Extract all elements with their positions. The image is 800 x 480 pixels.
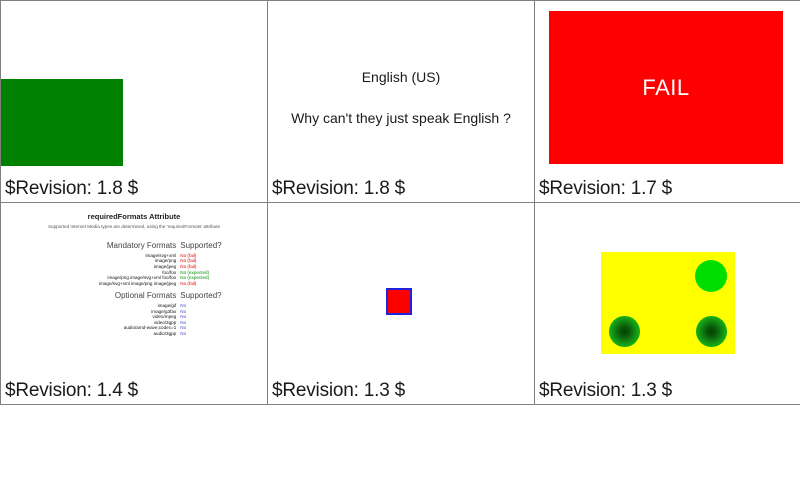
language-title: English (US) (268, 69, 534, 85)
formats-table: Mandatory FormatsSupported?image/svg+xml… (1, 236, 267, 337)
revision-label: $Revision: 1.3 $ (539, 380, 672, 402)
grid-cell-yellow-circles: $Revision: 1.3 $ (535, 203, 800, 405)
fail-banner-rectangle: FAIL (549, 11, 783, 164)
grid-cell-language-text: English (US) Why can't they just speak E… (268, 1, 535, 203)
grid-row-bottom: requiredFormats Attribute Supported Inte… (1, 203, 800, 405)
fail-banner-text: FAIL (549, 11, 783, 164)
optional-formats-header-row: Optional FormatsSupported? (1, 286, 267, 303)
cell-content-green-rect: $Revision: 1.8 $ (1, 1, 267, 202)
green-circle-top-right (695, 260, 727, 292)
revision-label: $Revision: 1.7 $ (539, 178, 672, 200)
results-grid: $Revision: 1.8 $ English (US) Why can't … (0, 0, 800, 405)
required-formats-report: requiredFormats Attribute Supported Inte… (1, 203, 267, 337)
mandatory-formats-header-format: Mandatory Formats (1, 236, 180, 253)
mandatory-formats-header-row: Mandatory FormatsSupported? (1, 236, 267, 253)
grid-cell-fail-banner: FAIL $Revision: 1.7 $ (535, 1, 800, 203)
revision-label: $Revision: 1.3 $ (272, 380, 405, 402)
format-name: audio/3gpp (1, 331, 180, 337)
revision-label: $Revision: 1.8 $ (272, 178, 405, 200)
grid-cell-red-square: $Revision: 1.3 $ (268, 203, 535, 405)
green-gradient-circle-bottom-left (609, 316, 640, 347)
cell-content-required-formats: requiredFormats Attribute Supported Inte… (1, 203, 267, 404)
format-supported-value: No (180, 331, 267, 337)
optional-formats-header-supported: Supported? (180, 286, 267, 303)
revision-label: $Revision: 1.8 $ (5, 178, 138, 200)
yellow-rectangle-shape (601, 252, 735, 354)
revision-label: $Revision: 1.4 $ (5, 380, 138, 402)
green-gradient-circle-bottom-right (696, 316, 727, 347)
cell-content-yellow-circles: $Revision: 1.3 $ (535, 203, 800, 404)
grid-cell-green-rect: $Revision: 1.8 $ (1, 1, 268, 203)
optional-format-row: audio/3gppNo (1, 331, 267, 337)
red-square-shape (386, 288, 412, 315)
grid-cell-required-formats: requiredFormats Attribute Supported Inte… (1, 203, 268, 405)
mandatory-formats-header-supported: Supported? (180, 236, 267, 253)
cell-content-fail-banner: FAIL $Revision: 1.7 $ (535, 1, 800, 202)
report-subtitle: Supported Internet Media types are deter… (1, 224, 267, 229)
report-title: requiredFormats Attribute (1, 212, 267, 221)
cell-content-language-text: English (US) Why can't they just speak E… (268, 1, 534, 202)
optional-formats-header-format: Optional Formats (1, 286, 180, 303)
cell-content-red-square: $Revision: 1.3 $ (268, 203, 534, 404)
grid-row-top: $Revision: 1.8 $ English (US) Why can't … (1, 1, 800, 203)
language-phrase: Why can't they just speak English ? (268, 110, 534, 126)
green-rectangle-shape (1, 79, 123, 166)
